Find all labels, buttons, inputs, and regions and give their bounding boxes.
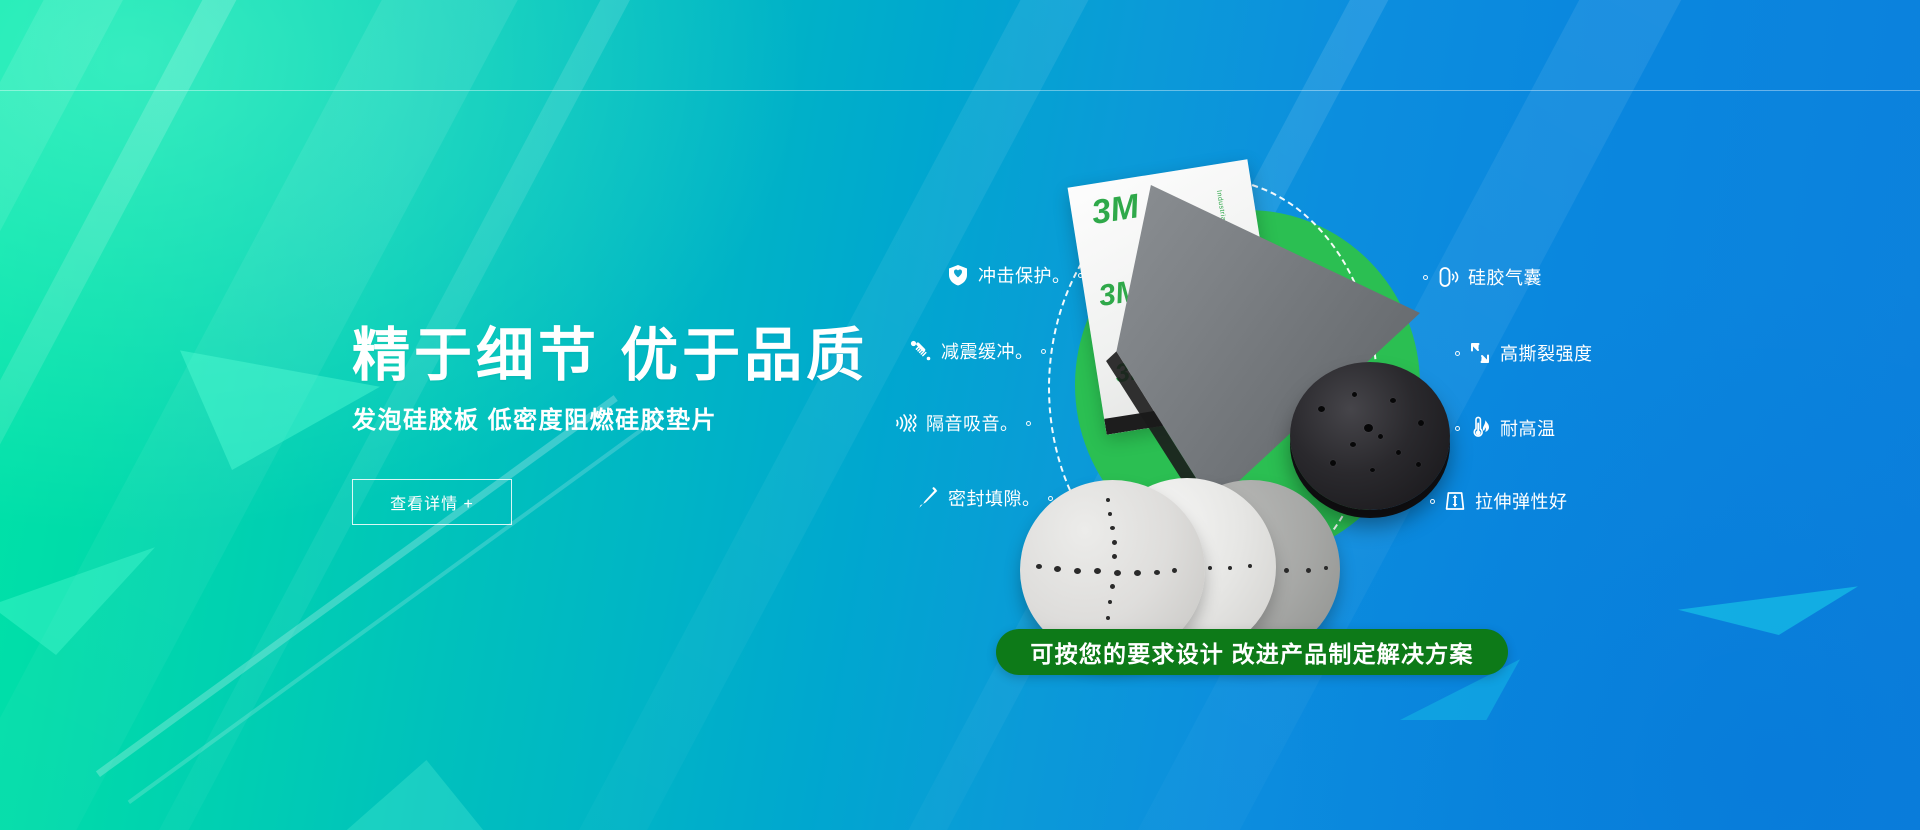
feature-right-2[interactable]: 耐高温 [1455, 415, 1556, 441]
feature-left-1[interactable]: 减震缓冲。 [908, 338, 1046, 364]
decor-streak-3 [0, 0, 212, 830]
feature-left-2[interactable]: 隔音吸音。 [893, 410, 1031, 436]
feature-left-3-label: 密封填隙。 [948, 485, 1041, 511]
feature-left-1-label: 减震缓冲。 [941, 338, 1034, 364]
decor-streak-4 [0, 0, 356, 830]
shield-icon [945, 262, 971, 288]
page-title: 精于细节 优于品质 [352, 326, 972, 386]
feature-connector-dot [1078, 273, 1083, 278]
shock-absorber-icon [908, 338, 934, 364]
tear-arrows-icon [1467, 340, 1493, 366]
feature-left-2-label: 隔音吸音。 [926, 410, 1019, 436]
page-subtitle: 发泡硅胶板 低密度阻燃硅胶垫片 [352, 400, 972, 435]
hero-banner: 精于细节 优于品质 发泡硅胶板 低密度阻燃硅胶垫片 查看详情 + 3M 3M 3… [0, 0, 1920, 830]
stretch-arrow-icon [1442, 488, 1468, 514]
feature-connector-dot [1455, 351, 1460, 356]
feature-left-0-label: 冲击保护。 [978, 262, 1071, 288]
product-scene: 3M 3M 3M Double Double Coated Tape Indus… [890, 150, 1900, 710]
promo-pill-banner[interactable]: 可按您的要求设计 改进产品制定解决方案 [996, 629, 1508, 675]
feature-connector-dot [1430, 499, 1435, 504]
sound-wave-icon [893, 410, 919, 436]
feature-connector-dot [1423, 275, 1428, 280]
decor-triangle-left-upper [180, 340, 380, 470]
decor-streak-2 [0, 0, 56, 830]
airbag-capsule-icon [1435, 264, 1461, 290]
feature-right-3-label: 拉伸弹性好 [1475, 488, 1568, 514]
feature-right-1[interactable]: 高撕裂强度 [1455, 340, 1593, 366]
feature-left-3[interactable]: 密封填隙。 [915, 485, 1053, 511]
feature-right-1-label: 高撕裂强度 [1500, 340, 1593, 366]
horizontal-hairline [0, 90, 1920, 91]
feature-connector-dot [1026, 421, 1031, 426]
sealant-syringe-icon [915, 485, 941, 511]
feature-left-0[interactable]: 冲击保护。 [945, 262, 1083, 288]
feature-right-0[interactable]: 硅胶气囊 [1423, 264, 1542, 290]
black-foam-disc [1290, 362, 1450, 510]
decor-triangle-left-bottom [290, 760, 510, 830]
decor-triangle-left-lower [0, 545, 155, 655]
feature-right-0-label: 硅胶气囊 [1468, 264, 1542, 290]
hero-copy: 精于细节 优于品质 发泡硅胶板 低密度阻燃硅胶垫片 查看详情 + [352, 326, 972, 525]
thermometer-flame-icon [1467, 415, 1493, 441]
feature-right-2-label: 耐高温 [1500, 415, 1556, 441]
feature-connector-dot [1041, 349, 1046, 354]
3m-logo-icon: 3M [1089, 187, 1142, 233]
feature-right-3[interactable]: 拉伸弹性好 [1430, 488, 1568, 514]
feature-connector-dot [1048, 496, 1053, 501]
view-details-button[interactable]: 查看详情 + [352, 479, 512, 525]
feature-connector-dot [1455, 426, 1460, 431]
